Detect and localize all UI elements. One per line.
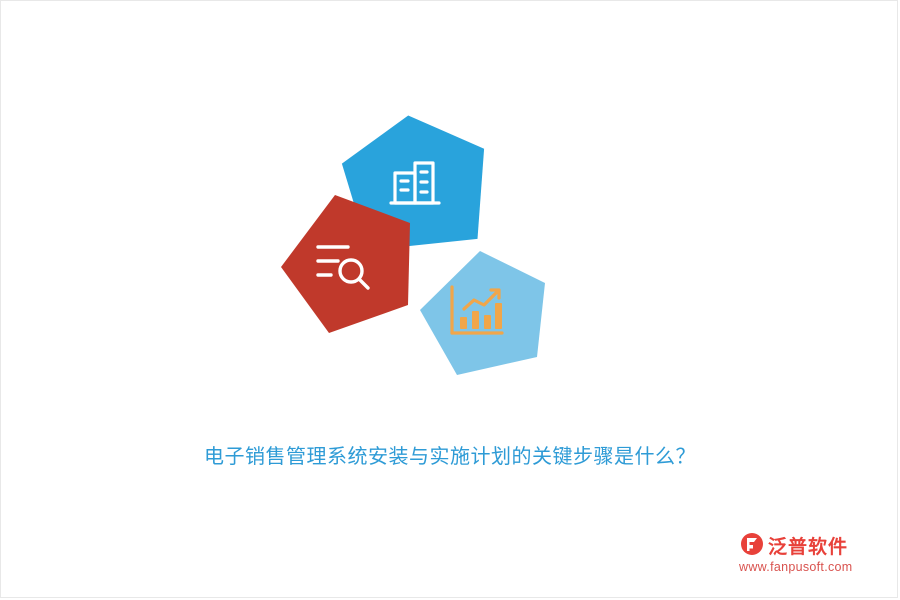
- page-canvas: 电子销售管理系统安装与实施计划的关键步骤是什么？ 泛普软件 www.fanpus…: [0, 0, 900, 600]
- fanpu-logo-icon: [740, 532, 764, 556]
- page-title: 电子销售管理系统安装与实施计划的关键步骤是什么？: [0, 440, 900, 469]
- watermark: 泛普软件 www.fanpusoft.com: [738, 530, 878, 582]
- hero-illustration: [275, 105, 575, 395]
- watermark-brand: 泛普软件: [768, 532, 848, 559]
- pentagon-chart: [420, 251, 545, 375]
- watermark-url: www.fanpusoft.com: [739, 560, 852, 574]
